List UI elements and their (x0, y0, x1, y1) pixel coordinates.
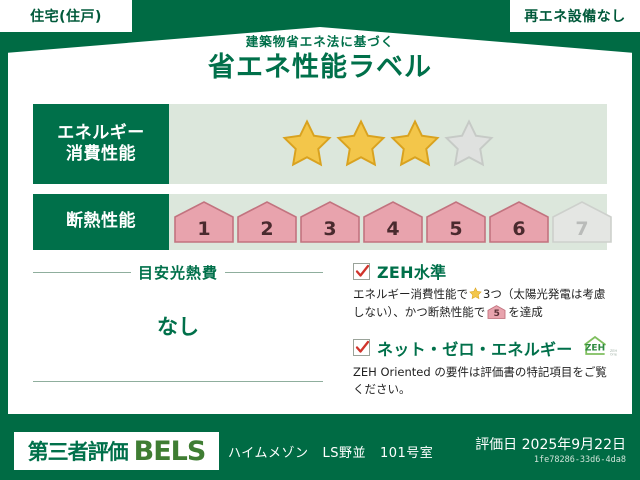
bels-certification-mark: 第三者評価 BELS (14, 432, 219, 470)
insulation-level-number: 5 (425, 218, 487, 240)
page-title: 省エネ性能ラベル (0, 54, 640, 81)
property-name: ハイムメゾン (228, 446, 308, 461)
utility-cost-value: なし (33, 311, 323, 341)
insulation-level-number: 4 (362, 218, 424, 240)
energy-performance-label: エネルギー 消費性能 (33, 104, 169, 184)
label-subtitle: 建築物省エネ法に基づく (0, 36, 640, 49)
evaluation-date: 評価日 2025年9月22日 (475, 434, 626, 454)
insulation-level-number: 1 (173, 218, 235, 240)
star-filled-icon (335, 118, 387, 170)
insulation-performance-label: 断熱性能 (33, 194, 169, 250)
energy-label-line2: 消費性能 (66, 144, 136, 165)
property-info: ハイムメゾンLS野並101号室 (228, 442, 447, 461)
insulation-house-filled: 2 (236, 200, 298, 244)
inline-house-number: 5 (487, 310, 506, 319)
zeh-standard-description: エネルギー消費性能で3つ（太陽光発電は考慮しない）、かつ断熱性能で5を達成 (353, 286, 615, 322)
property-room: 101号室 (380, 446, 433, 461)
net-zero-title: ネット・ゼロ・エネルギー (377, 336, 573, 360)
insulation-performance-row: 断熱性能 1234567 (33, 194, 607, 250)
insulation-house-filled: 5 (425, 200, 487, 244)
footer-bar: 第三者評価 BELS ハイムメゾンLS野並101号室 評価日 2025年9月22… (0, 424, 640, 480)
net-zero-description: ZEH Oriented の要件は評価書の特記項目をご覧ください。 (353, 364, 615, 400)
third-party-label: 第三者評価 (28, 436, 128, 466)
utility-cost-title: 目安光熱費 (138, 262, 218, 283)
insulation-house-filled: 4 (362, 200, 424, 244)
label-body: エネルギー 消費性能 断熱性能 1234567 目安光熱費 なし (8, 96, 632, 414)
insulation-level-number: 3 (299, 218, 361, 240)
star-icon (469, 287, 482, 300)
label-title-block: 建築物省エネ法に基づく 省エネ性能ラベル (0, 36, 640, 81)
insulation-house-icon-inline: 5 (487, 305, 506, 319)
checkbox-zeh-standard[interactable] (353, 263, 370, 280)
insulation-level-number: 2 (236, 218, 298, 240)
insulation-house-filled: 1 (173, 200, 235, 244)
badge-renewable-status: 再エネ設備なし (510, 0, 640, 32)
star-empty-icon (443, 118, 495, 170)
rule-left (33, 272, 131, 273)
energy-performance-row: エネルギー 消費性能 (33, 104, 607, 184)
star-filled-icon (389, 118, 441, 170)
svg-text:Oriented: Oriented (610, 352, 617, 356)
insulation-house-filled: 3 (299, 200, 361, 244)
energy-label-line1: エネルギー (57, 123, 145, 144)
evaluation-date-label: 評価日 (475, 437, 517, 453)
zeh-desc-pre: エネルギー消費性能で (353, 287, 468, 301)
insulation-house-filled: 6 (488, 200, 550, 244)
insulation-house-empty: 7 (551, 200, 613, 244)
utility-cost-heading: 目安光熱費 (33, 262, 323, 283)
badge-building-type: 住宅(住戸) (0, 0, 132, 32)
certificate-id: 1fe78286-33d6-4da8 (534, 455, 626, 465)
zeh-panel: ZEH水準 エネルギー消費性能で3つ（太陽光発電は考慮しない）、かつ断熱性能で5… (353, 259, 615, 404)
zeh-standard-row: ZEH水準 (353, 259, 615, 283)
svg-text:ZEH: ZEH (585, 343, 605, 353)
insulation-level-number: 6 (488, 218, 550, 240)
star-filled-icon (281, 118, 333, 170)
insulation-label: 断熱性能 (66, 211, 136, 232)
insulation-level-scale: 1234567 (169, 194, 613, 250)
evaluation-date-value: 2025年9月22日 (522, 437, 626, 453)
rule-right (225, 272, 323, 273)
net-zero-row: ネット・ゼロ・エネルギー ZEH ZEH Oriented (353, 335, 615, 361)
checkbox-net-zero-energy[interactable] (353, 339, 370, 356)
energy-star-rating (169, 104, 607, 184)
zeh-logo-icon: ZEH ZEH Oriented (583, 335, 617, 361)
zeh-standard-title: ZEH水準 (377, 259, 446, 283)
property-building: LS野並 (322, 446, 366, 461)
utility-cost-underline (33, 381, 323, 382)
insulation-level-number: 7 (551, 218, 613, 240)
bels-energy-label: ハウスコム ハウスコム ハウスコム 住宅(住戸) 再エネ設備なし 建築物省エネ法… (0, 0, 640, 480)
utility-cost-panel: 目安光熱費 なし (33, 262, 323, 402)
bels-logo-text: BELS (134, 436, 206, 467)
zeh-desc-post: を達成 (508, 305, 543, 319)
